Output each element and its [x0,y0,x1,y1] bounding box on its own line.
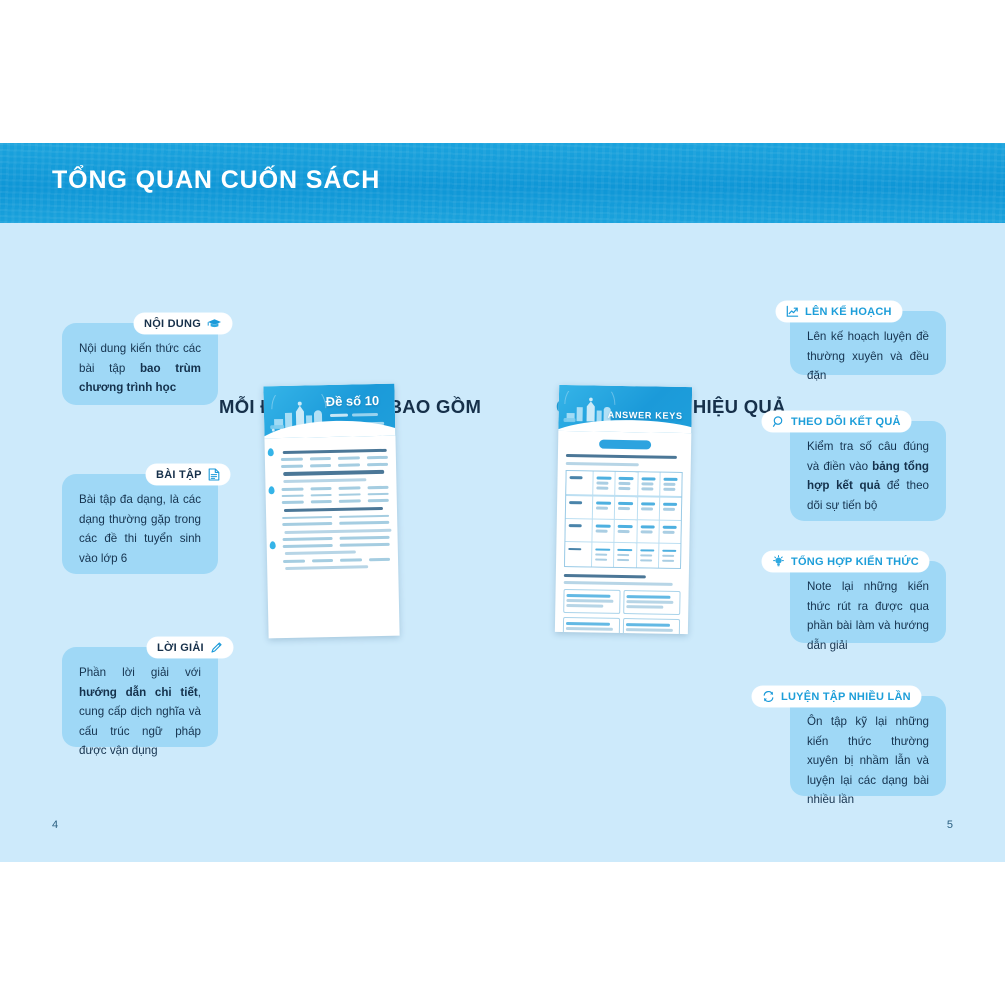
table-cell [593,519,614,541]
badge-label: NỘI DUNG [144,318,201,330]
table-cell [637,543,658,567]
table-cell [593,496,614,518]
answer-page-content [555,431,691,634]
table-cell [615,496,636,518]
feature-card-loi-giai: Phần lời giải với hướng dẫn chi tiết, cu… [62,647,218,747]
table-cell [638,472,659,496]
table-cell [615,520,636,542]
table-cell [638,497,659,519]
answer-page-badge [599,440,651,450]
magnifier-icon [772,415,785,428]
chart-growth-icon [786,305,799,318]
feature-card-body: Ôn tập kỹ lại những kiến thức thường xuy… [807,712,929,810]
feature-card-body: Note lại những kiến thức rút ra được qua… [807,577,929,655]
feature-card-luyen-tap-nhieu-lan: Ôn tập kỹ lại những kiến thức thường xuy… [790,696,946,796]
table-cell [593,471,614,495]
table-cell [660,497,681,519]
feature-card-theo-doi-ket-qua: Kiểm tra số câu đúng và điền vào bảng tổ… [790,421,946,521]
table-cell [614,543,635,567]
badge-len-ke-hoach[interactable]: LÊN KẾ HOẠCH [776,301,902,322]
badge-luyen-tap-nhieu-lan[interactable]: LUYỆN TẬP NHIỀU LẦN [752,686,921,707]
card-text-bold: hướng dẫn chi tiết [79,686,198,699]
exam-page-header: Đề số 10 [263,384,395,439]
table-row [566,496,681,520]
feature-card-bai-tap: Bài tập đa dạng, là các dạng thường gặp … [62,474,218,574]
badge-label: LÊN KẾ HOẠCH [805,306,892,318]
page-number-right: 5 [947,819,953,831]
answer-key-table [564,470,683,569]
badge-label: BÀI TẬP [156,469,202,481]
pencil-icon [210,641,223,654]
table-cell [637,520,658,542]
header-banner: TỔNG QUAN CUỐN SÁCH [0,143,1005,223]
feature-card-body: Bài tập đa dạng, là các dạng thường gặp … [79,490,201,568]
badge-noi-dung[interactable]: NỘI DUNG [134,313,232,334]
table-cell [565,542,591,566]
book-spread: TỔNG QUAN CUỐN SÁCH MỖI ĐỀ KIỂM TRA BAO … [0,143,1005,862]
table-cell [659,544,680,568]
table-cell [566,471,592,495]
table-row [566,471,681,497]
badge-label: TỔNG HỢP KIẾN THỨC [791,556,919,568]
badge-label: LỜI GIẢI [157,642,204,654]
repeat-icon [762,690,775,703]
feature-card-body: Lên kế hoạch luyện đề thường xuyên và đề… [807,327,929,386]
table-cell [592,542,613,566]
feature-card-body: Nội dung kiến thức các bài tập bao trùm … [79,339,201,398]
feature-card-noi-dung: Nội dung kiến thức các bài tập bao trùm … [62,323,218,405]
card-text: Bài tập đa dạng, là các dạng thường gặp … [79,493,201,565]
table-row [565,519,680,543]
card-text: Ôn tập kỹ lại những kiến thức thường xuy… [807,715,929,806]
badge-loi-giai[interactable]: LỜI GIẢI [147,637,233,658]
page-title: TỔNG QUAN CUỐN SÁCH [52,166,380,195]
feature-card-body: Kiểm tra số câu đúng và điền vào bảng tổ… [807,437,929,515]
table-cell [565,519,591,541]
badge-label: LUYỆN TẬP NHIỀU LẦN [781,691,911,703]
badge-theo-doi-ket-qua[interactable]: THEO DÕI KẾT QUẢ [762,411,911,432]
badge-bai-tap[interactable]: BÀI TẬP [146,464,230,485]
card-text: Lên kế hoạch luyện đề thường xuyên và đề… [807,330,929,382]
badge-label: THEO DÕI KẾT QUẢ [791,416,901,428]
left-heading-plain: BAO GỒM [389,396,482,417]
card-text: Phần lời giải với [79,666,201,679]
feature-card-body: Phần lời giải với hướng dẫn chi tiết, cu… [79,663,201,761]
table-cell [660,473,681,497]
table-cell [616,472,637,496]
answer-page-header: ANSWER KEYS [558,385,692,433]
table-cell [659,520,680,542]
graduation-cap-icon [207,318,222,329]
table-row [565,542,680,568]
exam-page-footnote [275,572,390,579]
book-page-preview-answers: ANSWER KEYS [555,385,692,634]
lightbulb-icon [772,555,785,568]
exam-page-title: Đề số 10 [326,393,380,409]
table-cell [566,496,592,518]
document-icon [208,468,220,481]
card-text: Note lại những kiến thức rút ra được qua… [807,580,929,652]
page-number-left: 4 [52,819,58,831]
badge-tong-hop-kien-thuc[interactable]: TỔNG HỢP KIẾN THỨC [762,551,929,572]
book-page-preview-exam: Đề số 10 [263,384,399,639]
exam-page-questions [264,436,398,586]
feature-card-tong-hop-kien-thuc: Note lại những kiến thức rút ra được qua… [790,561,946,643]
